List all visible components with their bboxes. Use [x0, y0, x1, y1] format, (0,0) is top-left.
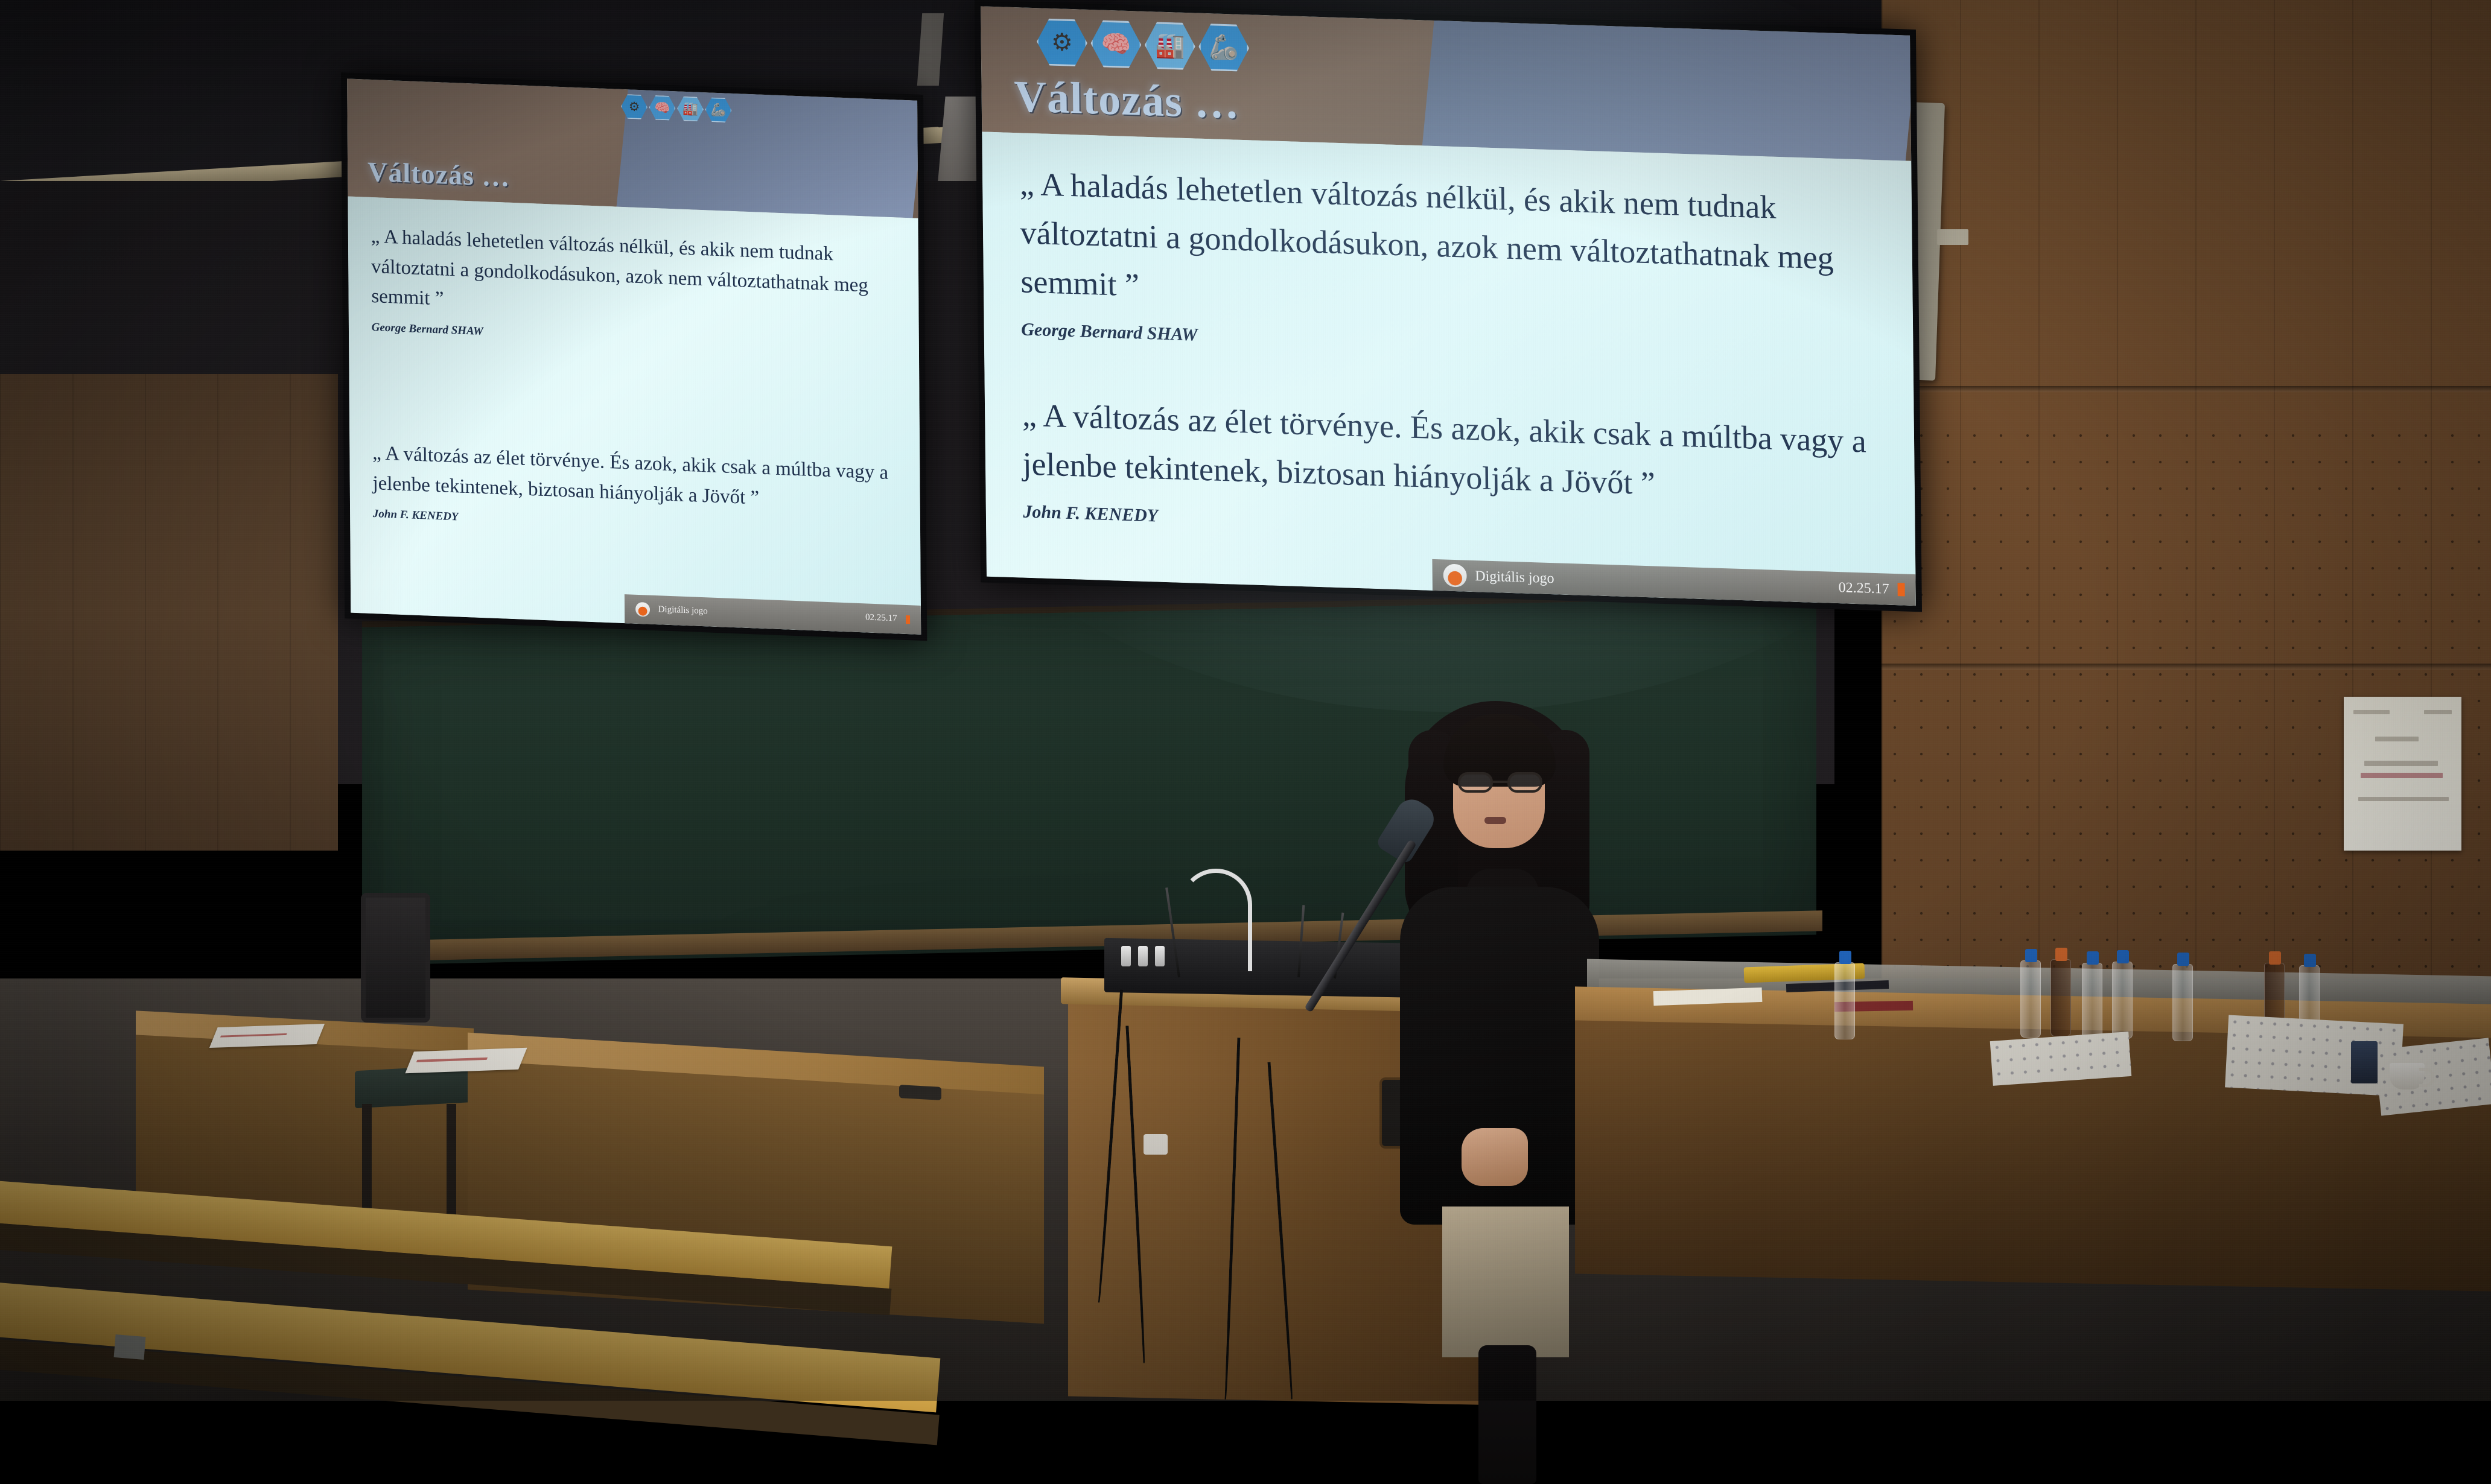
quote-block: „ A változás az élet törvénye. És azok, … [1022, 391, 1878, 553]
slide-footer: Digitális jogo 02.25.17 [1433, 559, 1916, 606]
paper-sheet [209, 1024, 325, 1048]
mixer-knob[interactable] [1138, 946, 1148, 966]
skirt [1442, 1207, 1569, 1357]
boot [1478, 1345, 1536, 1484]
wood-wall-left [0, 374, 338, 851]
quote-author: John F. KENEDY [373, 506, 898, 543]
quote-block: „ A haladás lehetetlen változás nélkül, … [1019, 159, 1857, 369]
water-bottle [1834, 962, 1855, 1039]
slide-left: ⚙ 🧠 🏭 🦾 Változás … „ A haladás lehetetle… [347, 78, 921, 635]
wall-notice [2344, 697, 2461, 851]
header-graphic [1419, 6, 1911, 160]
footer-date: 02.25.17 [1839, 580, 1889, 598]
cable-clip [1144, 1134, 1168, 1155]
chair-leg [447, 1104, 456, 1228]
soda-bottle [2050, 959, 2071, 1036]
quote-block: „ A haladás lehetetlen változás nélkül, … [371, 222, 885, 356]
robot-arm-icon: 🦾 [705, 97, 731, 122]
quote-author: John F. KENEDY [1023, 498, 1878, 553]
quote-author: George Bernard SHAW [372, 319, 885, 356]
lecture-hall-scene: ⚙ 🧠 🏭 🦾 Változás … „ A haladás lehetetle… [0, 0, 2491, 1401]
brain-circuit-icon: 🧠 [649, 95, 675, 120]
footer-label: Digitális jogo [658, 605, 708, 617]
water-bottle [2020, 960, 2041, 1038]
quote-block: „ A változás az élet törvénye. És azok, … [372, 439, 897, 543]
slide-title: Változás … [1014, 71, 1240, 130]
orange-arc-logo-icon [635, 602, 650, 617]
footer-label: Digitális jogo [1475, 568, 1554, 587]
slide-header: ⚙ 🧠 🏭 🦾 Változás … [347, 78, 918, 218]
presenter [1388, 688, 1605, 1401]
orange-arc-logo-icon [1443, 563, 1467, 588]
remote-control[interactable] [899, 1085, 941, 1100]
gear-wrench-icon: ⚙ [621, 94, 647, 119]
hand [1462, 1128, 1528, 1186]
slide-body: „ A haladás lehetetlen változás nélkül, … [982, 132, 1916, 606]
factory-icon: 🏭 [677, 96, 704, 121]
gooseneck-microphone [1180, 869, 1252, 971]
mixer-knob[interactable] [1155, 946, 1165, 966]
slide-footer: Digitális jogo 02.25.17 [625, 594, 921, 635]
footer-accent-dot [906, 615, 911, 624]
quote-author: George Bernard SHAW [1021, 316, 1857, 370]
quote-text: „ A változás az élet törvénye. És azok, … [372, 442, 888, 509]
glasses-icon [1458, 772, 1542, 793]
gear-wrench-icon: ⚙ [1037, 18, 1088, 67]
speaker-bracket [1937, 229, 1968, 245]
mouth [1484, 817, 1506, 824]
water-bottle [2172, 964, 2193, 1041]
water-bottle [2082, 963, 2102, 1040]
projection-screen-left[interactable]: ⚙ 🧠 🏭 🦾 Változás … „ A haladás lehetetle… [341, 72, 927, 641]
quote-text: „ A haladás lehetetlen változás nélkül, … [1019, 165, 1834, 303]
coffee-cup [2390, 1063, 2425, 1089]
phone [2351, 1041, 2378, 1083]
footer-accent-dot [1898, 583, 1905, 597]
chair-backrest[interactable] [361, 893, 430, 1023]
slide-body: „ A haladás lehetetlen változás nélkül, … [348, 196, 921, 635]
projection-screen-right[interactable]: ⚙ 🧠 🏭 🦾 Változás … „ A haladás lehetetle… [975, 0, 1922, 612]
paper-sheet [405, 1048, 527, 1073]
mixer-knob[interactable] [1121, 946, 1131, 966]
quote-text: „ A változás az élet törvénye. És azok, … [1022, 397, 1866, 502]
quote-text: „ A haladás lehetetlen változás nélkül, … [371, 226, 868, 310]
factory-icon: 🏭 [1144, 21, 1195, 70]
footer-date: 02.25.17 [865, 613, 897, 624]
robot-arm-icon: 🦾 [1198, 23, 1250, 72]
wood-seam [1882, 386, 2491, 392]
slide-title: Változás … [367, 156, 511, 193]
wood-seam [1882, 664, 2491, 670]
water-bottle [2112, 962, 2133, 1039]
brain-circuit-icon: 🧠 [1090, 20, 1142, 69]
slide-right: ⚙ 🧠 🏭 🦾 Változás … „ A haladás lehetetle… [981, 6, 1916, 606]
bench-fitting [114, 1334, 146, 1360]
